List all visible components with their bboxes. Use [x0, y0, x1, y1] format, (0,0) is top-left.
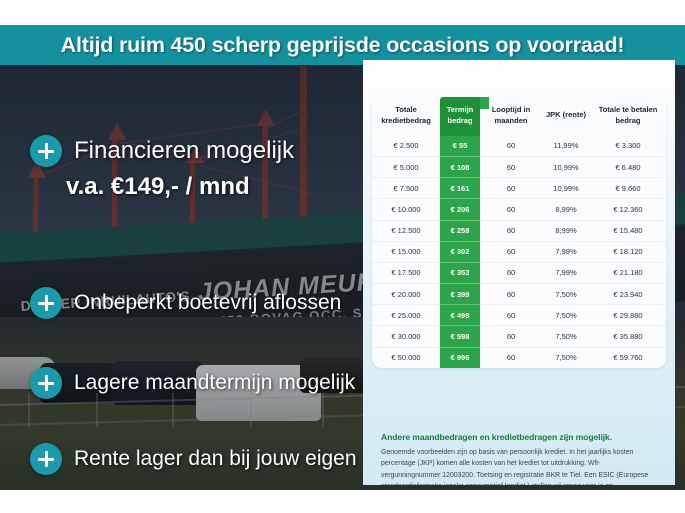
cell-krediet: € 17.500 — [372, 262, 440, 283]
table-row: € 12.500 € 258 60 8,99% € 15.480 — [372, 220, 666, 241]
cell-totaal: € 9.660 — [590, 178, 666, 199]
plus-circle-icon — [30, 367, 62, 399]
cell-looptijd: 60 — [480, 284, 542, 305]
cell-totaal: € 18.120 — [590, 241, 666, 262]
cell-looptijd: 60 — [480, 326, 542, 347]
cell-termijn: € 302 — [440, 241, 480, 262]
cell-jkp: 7,99% — [542, 241, 590, 262]
cell-jkp: 7,50% — [542, 305, 590, 326]
cell-termijn: € 258 — [440, 220, 480, 241]
cell-jkp: 7,99% — [542, 262, 590, 283]
cell-termijn: € 108 — [440, 156, 480, 177]
benefit-item-2: Onbeperkt boetevrij aflossen — [30, 287, 341, 319]
cell-jkp: 7,50% — [542, 347, 590, 368]
table-row: € 50.000 € 996 60 7,50% € 59.760 — [372, 347, 666, 368]
cell-looptijd: 60 — [480, 347, 542, 368]
table-row: € 2.500 € 55 60 11,99% € 3.300 — [372, 136, 666, 157]
cell-jkp: 8,99% — [542, 199, 590, 220]
finance-table: Totale kredietbedrag Termijn bedrag Loop… — [372, 97, 666, 368]
benefit-label-4: Rente lager dan bij jouw eigen bank — [74, 447, 408, 471]
cell-looptijd: 60 — [480, 262, 542, 283]
cell-krediet: € 2.500 — [372, 136, 440, 157]
column-header-krediet: Totale kredietbedrag — [372, 97, 440, 136]
header-banner: Altijd ruim 450 scherp geprijsde occasio… — [0, 25, 685, 65]
benefit-item-4: Rente lager dan bij jouw eigen bank — [30, 443, 408, 475]
cell-totaal: € 15.480 — [590, 220, 666, 241]
cell-termijn: € 399 — [440, 284, 480, 305]
page-margin-bottom — [0, 490, 685, 513]
cell-jkp: 8,99% — [542, 220, 590, 241]
cell-krediet: € 30.000 — [372, 326, 440, 347]
column-header-jkp: JPK (rente) — [542, 97, 590, 136]
cell-jkp: 7,50% — [542, 326, 590, 347]
plus-circle-icon — [30, 443, 62, 475]
table-row: € 30.000 € 598 60 7,50% € 35.880 — [372, 326, 666, 347]
cell-krediet: € 15.000 — [372, 241, 440, 262]
benefit-item-1: Financieren mogelijk — [30, 135, 294, 167]
plus-circle-icon — [30, 135, 62, 167]
cell-totaal: € 59.760 — [590, 347, 666, 368]
cell-jkp: 10,99% — [542, 156, 590, 177]
disclaimer-title: Andere maandbedragen en kredietbedragen … — [381, 432, 661, 442]
cell-looptijd: 60 — [480, 199, 542, 220]
benefit-label-1: Financieren mogelijk — [74, 137, 294, 165]
finance-advertisement: Altijd ruim 450 scherp geprijsde occasio… — [0, 25, 685, 490]
cell-looptijd: 60 — [480, 220, 542, 241]
table-row: € 15.000 € 302 60 7,99% € 18.120 — [372, 241, 666, 262]
table-row: € 5.000 € 108 60 10,99% € 6.480 — [372, 156, 666, 177]
table-row: € 10.000 € 206 60 8,99% € 12.360 — [372, 199, 666, 220]
cell-krediet: € 20.000 — [372, 284, 440, 305]
cell-looptijd: 60 — [480, 156, 542, 177]
cell-totaal: € 21.180 — [590, 262, 666, 283]
plus-circle-icon — [30, 287, 62, 319]
table-header-row: Totale kredietbedrag Termijn bedrag Loop… — [372, 97, 666, 136]
cell-termijn: € 498 — [440, 305, 480, 326]
finance-card: Totale kredietbedrag Termijn bedrag Loop… — [363, 60, 675, 485]
cell-looptijd: 60 — [480, 305, 542, 326]
cell-totaal: € 6.480 — [590, 156, 666, 177]
cell-jkp: 10,99% — [542, 178, 590, 199]
cell-termijn: € 353 — [440, 262, 480, 283]
cell-krediet: € 50.000 — [372, 347, 440, 368]
cell-termijn: € 996 — [440, 347, 480, 368]
cell-termijn: € 55 — [440, 136, 480, 157]
cell-looptijd: 60 — [480, 178, 542, 199]
table-row: € 20.000 € 399 60 7,50% € 23.940 — [372, 284, 666, 305]
benefit-label-3: Lagere maandtermijn mogelijk — [74, 371, 355, 395]
cell-krediet: € 12.500 — [372, 220, 440, 241]
cell-krediet: € 7.500 — [372, 178, 440, 199]
cell-jkp: 11,99% — [542, 136, 590, 157]
finance-table-body: € 2.500 € 55 60 11,99% € 3.300 € 5.000 €… — [372, 136, 666, 368]
table-row: € 7.500 € 161 60 10,99% € 9.660 — [372, 178, 666, 199]
cell-totaal: € 35.880 — [590, 326, 666, 347]
table-row: € 17.500 € 353 60 7,99% € 21.180 — [372, 262, 666, 283]
cell-krediet: € 5.000 — [372, 156, 440, 177]
cell-termijn: € 598 — [440, 326, 480, 347]
cell-totaal: € 23.940 — [590, 284, 666, 305]
column-header-totaal: Totale te betalen bedrag — [590, 97, 666, 136]
cell-looptijd: 60 — [480, 136, 542, 157]
benefit-sublabel-1: v.a. €149,- / mnd — [66, 173, 250, 201]
benefits-list: Financieren mogelijk v.a. €149,- / mnd O… — [0, 65, 370, 490]
cell-totaal: € 29.880 — [590, 305, 666, 326]
cell-jkp: 7,50% — [542, 284, 590, 305]
benefit-item-3: Lagere maandtermijn mogelijk — [30, 367, 355, 399]
cell-krediet: € 25.000 — [372, 305, 440, 326]
cell-termijn: € 161 — [440, 178, 480, 199]
benefit-label-2: Onbeperkt boetevrij aflossen — [74, 291, 341, 315]
cell-krediet: € 10.000 — [372, 199, 440, 220]
cell-totaal: € 3.300 — [590, 136, 666, 157]
cell-totaal: € 12.360 — [590, 199, 666, 220]
page-margin-top — [0, 0, 685, 25]
cell-termijn: € 206 — [440, 199, 480, 220]
column-header-termijn: Termijn bedrag — [440, 97, 480, 136]
cell-looptijd: 60 — [480, 241, 542, 262]
header-title: Altijd ruim 450 scherp geprijsde occasio… — [61, 33, 625, 58]
column-header-looptijd: Looptijd in maanden — [480, 97, 542, 136]
table-row: € 25.000 € 498 60 7,50% € 29.880 — [372, 305, 666, 326]
finance-table-container: Totale kredietbedrag Termijn bedrag Loop… — [372, 97, 666, 368]
disclaimer-body: Genoemde voorbeelden zijn op basis van p… — [381, 447, 653, 485]
